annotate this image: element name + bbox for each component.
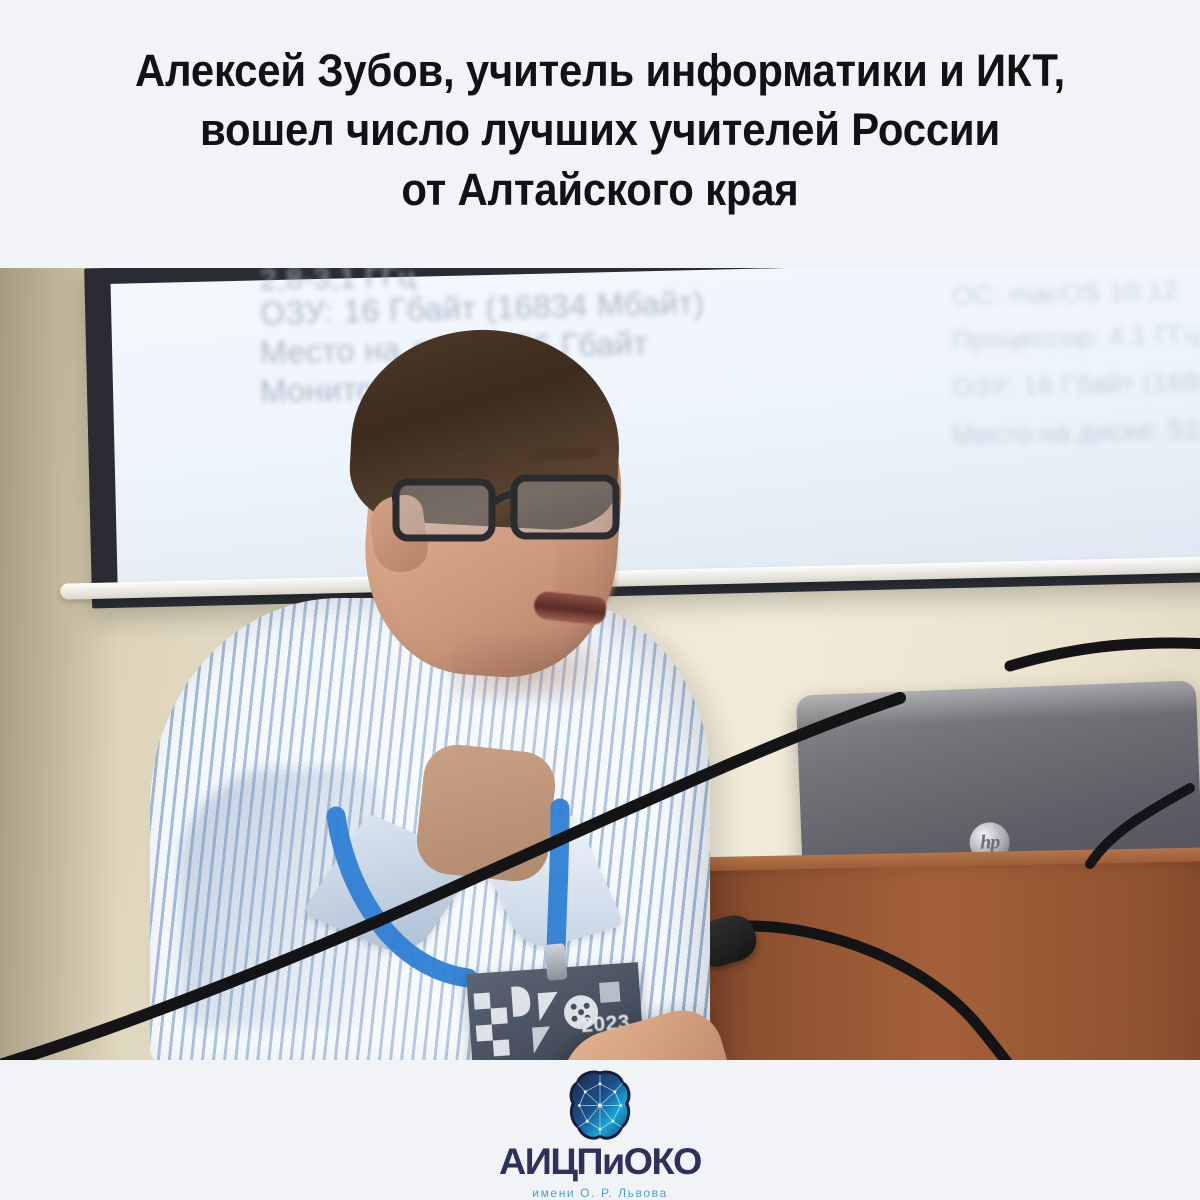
page-title: Алексей Зубов, учитель информатики и ИКТ…	[135, 41, 1065, 219]
eyeglasses-icon	[392, 468, 628, 552]
news-photo: 2,8-3,1 ГГц ОЗУ: 16 Гбайт (16834 Мбайт) …	[0, 268, 1200, 1060]
headline-banner: Алексей Зубов, учитель информатики и ИКТ…	[0, 0, 1200, 268]
news-card: Алексей Зубов, учитель информатики и ИКТ…	[0, 0, 1200, 1200]
neck	[414, 741, 559, 884]
logo-subtitle: имени О. Р. Львова	[532, 1186, 667, 1200]
logo-wordmark: АИЦПиОКО	[499, 1143, 701, 1180]
footer-logo-bar: АИЦПиОКО имени О. Р. Львова	[0, 1060, 1200, 1200]
speaker-figure	[0, 268, 1200, 1060]
badge-clip	[544, 943, 567, 981]
chin-shadow	[450, 638, 600, 702]
brain-network-icon	[567, 1070, 633, 1141]
